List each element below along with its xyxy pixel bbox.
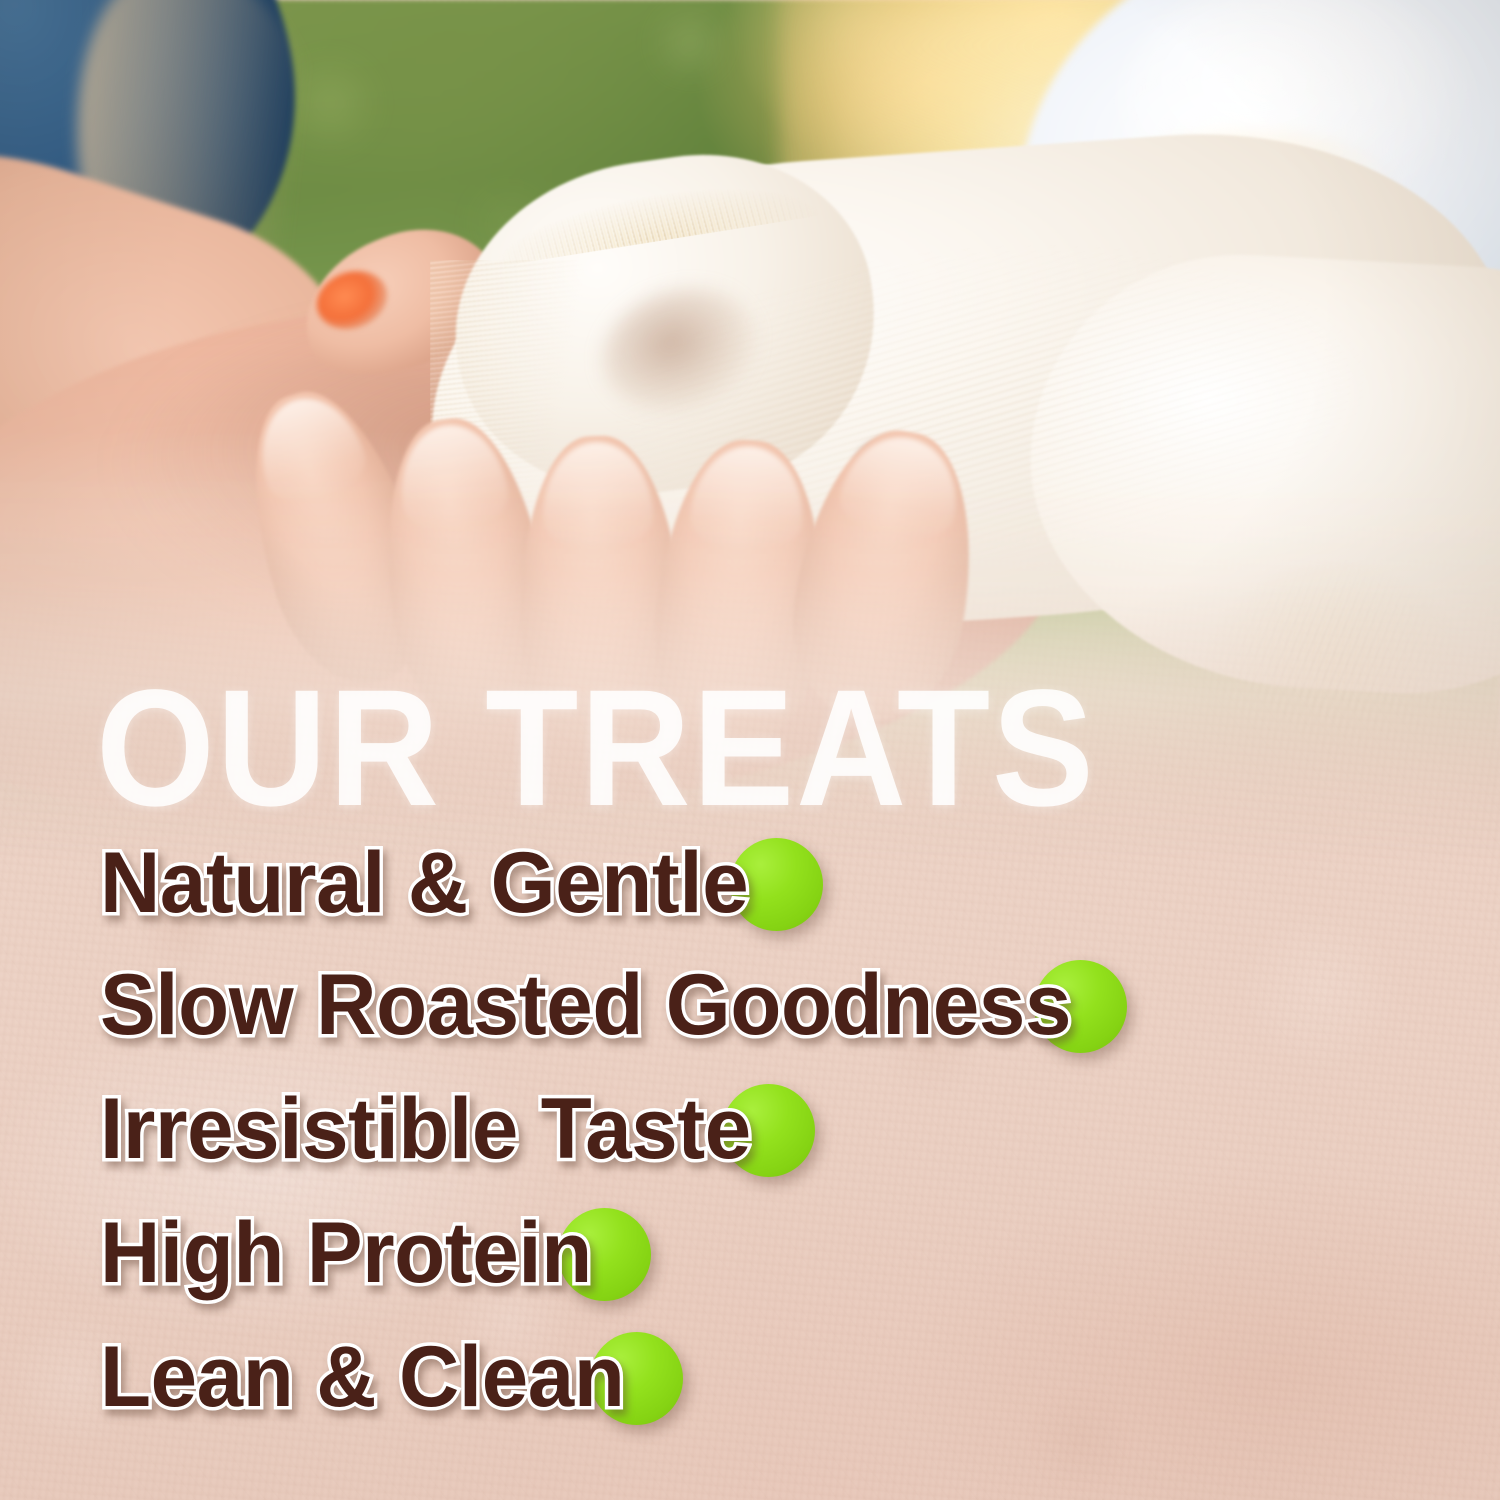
feature-label: High Protein bbox=[100, 1210, 592, 1296]
feature-label: Lean & Clean bbox=[100, 1334, 624, 1420]
product-feature-banner: OUR TREATS Natural & Gentle Slow Roasted… bbox=[0, 0, 1500, 1500]
list-item: Slow Roasted Goodness bbox=[0, 952, 1500, 1076]
feature-label: Natural & Gentle bbox=[100, 840, 748, 926]
page-title: OUR TREATS bbox=[96, 666, 1096, 832]
feature-list: Natural & Gentle Slow Roasted Goodness I… bbox=[0, 828, 1500, 1448]
feature-label: Slow Roasted Goodness bbox=[100, 962, 1071, 1048]
list-item: Natural & Gentle bbox=[0, 828, 1500, 952]
list-item: Lean & Clean bbox=[0, 1324, 1500, 1448]
list-item: High Protein bbox=[0, 1200, 1500, 1324]
feature-label: Irresistible Taste bbox=[100, 1086, 751, 1172]
list-item: Irresistible Taste bbox=[0, 1076, 1500, 1200]
